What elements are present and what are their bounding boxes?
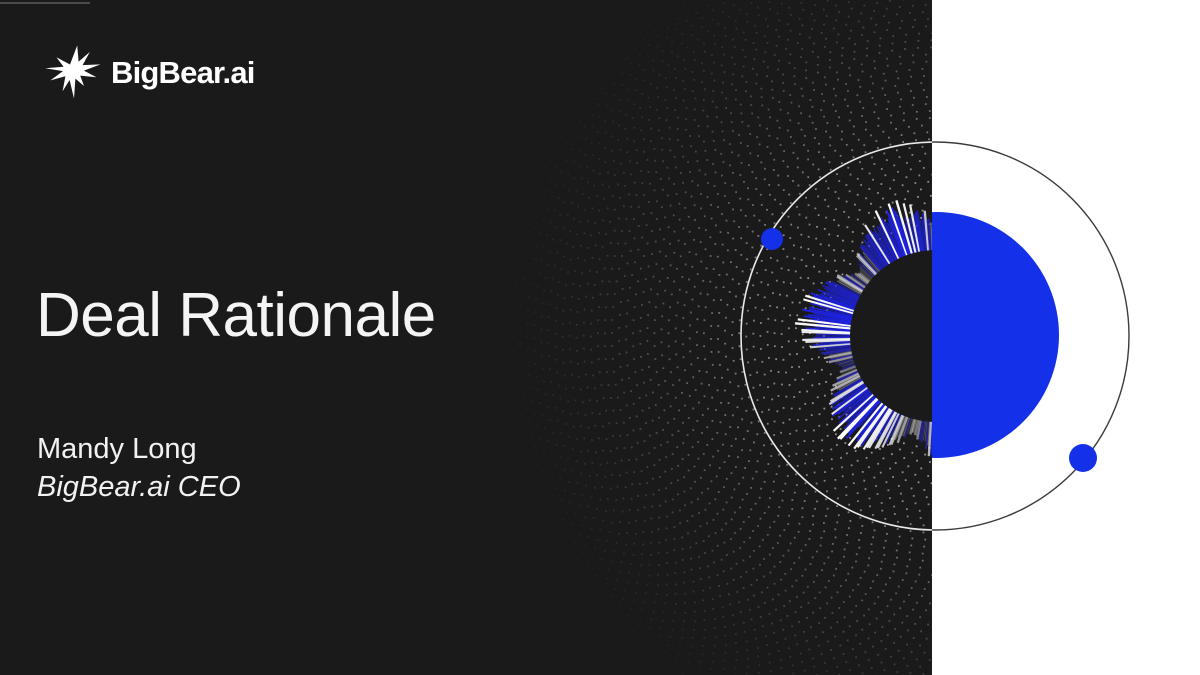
presenter-name: Mandy Long: [37, 430, 241, 468]
radial-dot-field: [505, 0, 951, 675]
bigbear-star-icon: [44, 44, 102, 100]
slide-root: BigBear.ai Deal Rationale Mandy Long Big…: [0, 0, 1200, 675]
bigbear-wordmark: BigBear.ai: [111, 57, 255, 88]
presenter-block: Mandy Long BigBear.ai CEO: [37, 430, 241, 507]
radial-data-burst: [795, 200, 941, 462]
orbit-node-upper-left: [761, 228, 783, 250]
presenter-role: BigBear.ai CEO: [37, 468, 241, 506]
orbit-node-lower-right: [1069, 444, 1097, 472]
page-title: Deal Rationale: [36, 283, 436, 348]
bigbear-logo[interactable]: BigBear.ai: [44, 44, 255, 100]
